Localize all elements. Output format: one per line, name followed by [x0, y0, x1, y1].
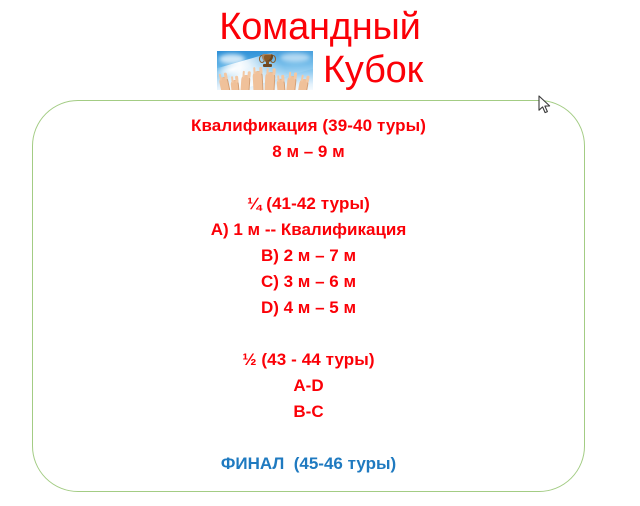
spacer-line	[32, 321, 585, 347]
slide-canvas: Командный	[0, 0, 640, 506]
raised-hands-group	[217, 64, 313, 90]
slide-title: Командный	[0, 4, 640, 96]
hands-raised-trophy-photo	[217, 51, 313, 90]
bracket-line: C) 3 м – 6 м	[32, 269, 585, 295]
bracket-line: ФИНАЛ (45-46 туры)	[32, 451, 585, 477]
bracket-line: A-D	[32, 373, 585, 399]
raised-hand-icon	[240, 74, 250, 89]
bracket-line: 8 м – 9 м	[32, 139, 585, 165]
bracket-line: D) 4 м – 5 м	[32, 295, 585, 321]
raised-hand-icon	[218, 76, 230, 90]
raised-hand-icon	[252, 70, 263, 89]
bracket-line: B-C	[32, 399, 585, 425]
title-line-2-row: Кубок	[0, 48, 640, 92]
bracket-line: Квалификация (39-40 туры)	[32, 113, 585, 139]
raised-hand-icon	[286, 75, 297, 89]
raised-hand-icon	[264, 71, 275, 89]
bracket-line: ½ (43 - 44 туры)	[32, 347, 585, 373]
bracket-line: A) 1 м -- Квалификация	[32, 217, 585, 243]
raised-hand-icon	[298, 78, 309, 90]
spacer-line	[32, 425, 585, 451]
raised-hand-icon	[230, 79, 239, 89]
cloud-icon	[219, 54, 245, 64]
title-line-1: Командный	[0, 6, 640, 48]
spacer-line	[32, 165, 585, 191]
raised-hand-icon	[276, 78, 285, 89]
title-line-2: Кубок	[323, 49, 423, 91]
tournament-bracket-text: Квалификация (39-40 туры)8 м – 9 м ¼ (41…	[32, 113, 585, 477]
bracket-line: ¼ (41-42 туры)	[32, 191, 585, 217]
bracket-line: B) 2 м – 7 м	[32, 243, 585, 269]
cloud-icon	[280, 53, 310, 62]
